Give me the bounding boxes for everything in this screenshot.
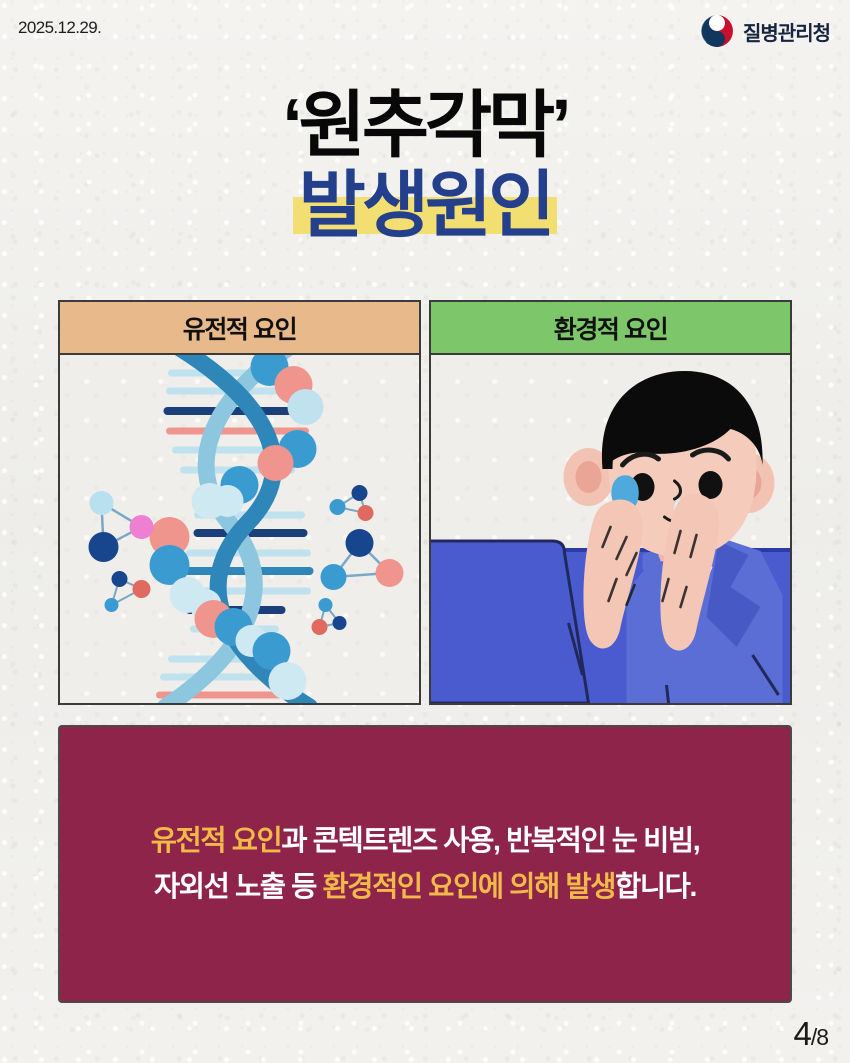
statement-plain-3: 합니다. [615, 871, 696, 903]
statement-line-1: 유전적 요인과 콘텍트렌즈 사용, 반복적인 눈 비빔, [151, 818, 700, 864]
title-line-2-wrap: 발생원인 [299, 168, 552, 244]
statement-highlight-environment: 환경적인 요인에 의해 발생 [322, 871, 615, 903]
title-line-1: ‘원추각막’ [0, 88, 850, 164]
statement-text: 유전적 요인과 콘텍트렌즈 사용, 반복적인 눈 비빔, 자외선 노출 등 환경… [151, 818, 700, 910]
statement-plain-2: 자외선 노출 등 [154, 871, 322, 903]
taegeuk-icon [700, 14, 734, 48]
page-indicator: 4/8 [793, 1015, 828, 1053]
title-line-2: 발생원인 [299, 165, 552, 246]
agency-name: 질병관리청 [743, 17, 830, 46]
statement-highlight-genetic: 유전적 요인 [151, 825, 282, 857]
agency-brand: 질병관리청 [700, 14, 830, 48]
page-total: /8 [811, 1024, 828, 1051]
statement-box: 유전적 요인과 콘텍트렌즈 사용, 반복적인 눈 비빔, 자외선 노출 등 환경… [58, 725, 792, 1003]
panel-genetic-header: 유전적 요인 [60, 302, 419, 355]
panel-genetic: 유전적 요인 [58, 300, 421, 705]
factor-panels: 유전적 요인 [58, 300, 792, 705]
panel-environment: 환경적 요인 [429, 300, 792, 705]
statement-line-2: 자외선 노출 등 환경적인 요인에 의해 발생합니다. [151, 864, 700, 910]
panel-environment-header: 환경적 요인 [431, 302, 790, 355]
person-rubbing-eyes-at-laptop-illustration [431, 355, 790, 703]
statement-plain-1: 과 콘텍트렌즈 사용, 반복적인 눈 비빔, [281, 825, 699, 857]
page-current: 4 [793, 1015, 810, 1053]
publish-date: 2025.12.29. [18, 18, 101, 38]
page-title: ‘원추각막’ 발생원인 [0, 88, 850, 244]
dna-double-helix-illustration [60, 355, 419, 703]
